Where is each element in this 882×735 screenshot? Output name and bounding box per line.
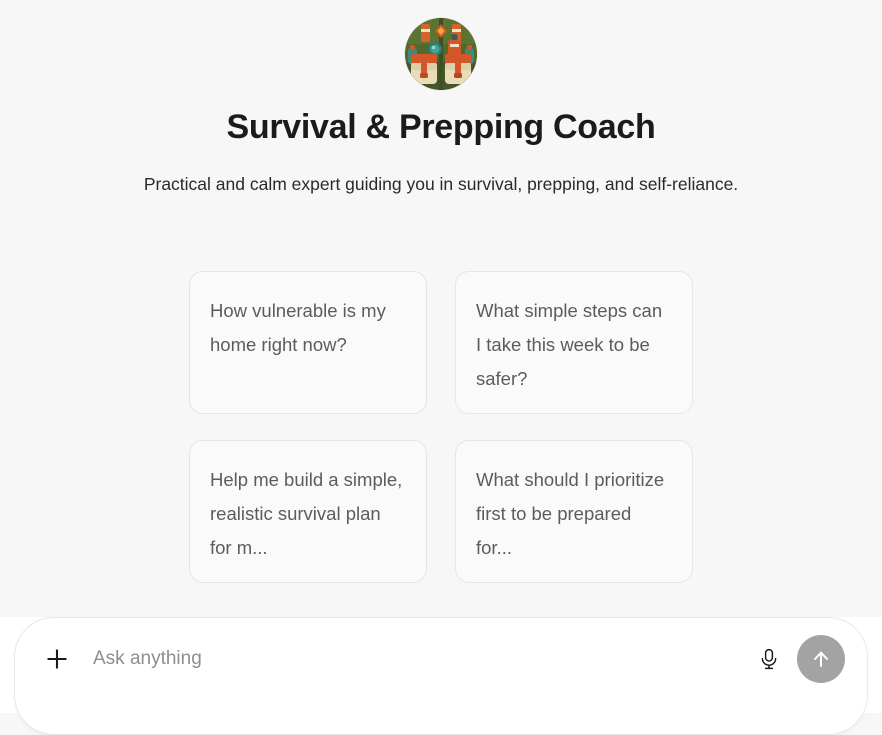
arrow-up-icon bbox=[809, 647, 833, 671]
composer-area bbox=[0, 617, 882, 713]
send-button[interactable] bbox=[797, 635, 845, 683]
search-input[interactable] bbox=[93, 639, 749, 679]
microphone-icon bbox=[757, 647, 781, 671]
survival-gear-avatar-icon bbox=[405, 18, 477, 90]
add-attachment-button[interactable] bbox=[37, 639, 77, 679]
voice-input-button[interactable] bbox=[749, 639, 789, 679]
suggestion-card[interactable]: How vulnerable is my home right now? bbox=[189, 271, 427, 414]
page-title: Survival & Prepping Coach bbox=[227, 108, 656, 147]
suggestion-card[interactable]: What simple steps can I take this week t… bbox=[455, 271, 693, 414]
suggestion-card[interactable]: What should I prioritize first to be pre… bbox=[455, 440, 693, 583]
plus-icon bbox=[44, 646, 70, 672]
suggestion-cards: How vulnerable is my home right now? Wha… bbox=[189, 271, 693, 583]
suggestion-card[interactable]: Help me build a simple, realistic surviv… bbox=[189, 440, 427, 583]
chat-start-screen: Survival & Prepping Coach Practical and … bbox=[0, 0, 882, 713]
page-subtitle: Practical and calm expert guiding you in… bbox=[144, 169, 738, 199]
avatar bbox=[405, 18, 477, 90]
message-composer bbox=[14, 617, 868, 735]
